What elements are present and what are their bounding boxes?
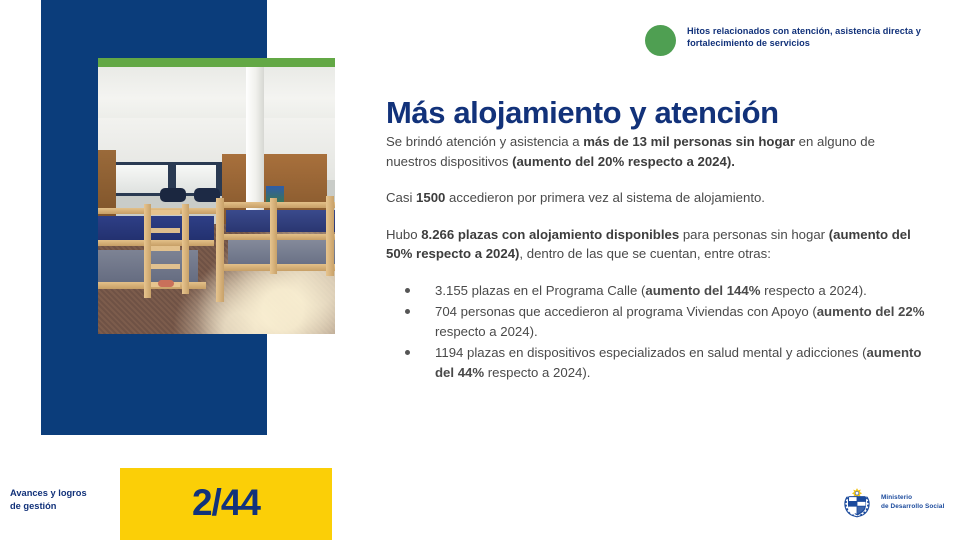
footer-label-line1: Avances y logros	[10, 487, 87, 500]
list-item: 3.155 plazas en el Programa Calle (aumen…	[386, 281, 926, 301]
footer-label-line2: de gestión	[10, 500, 87, 513]
footer-label: Avances y logros de gestión	[10, 487, 87, 512]
list-item: 1194 plazas en dispositivos especializad…	[386, 343, 926, 382]
section-eyebrow-text: Hitos relacionados con atención, asisten…	[687, 24, 945, 50]
body-content: Se brindó atención y asistencia a más de…	[386, 132, 926, 384]
photo-accent-bar	[98, 58, 335, 67]
paragraph-1: Se brindó atención y asistencia a más de…	[386, 132, 926, 171]
page-title: Más alojamiento y atención	[386, 95, 779, 131]
green-dot-icon	[645, 25, 676, 56]
slide-root: Hitos relacionados con atención, asisten…	[0, 0, 960, 540]
ministry-logo: Ministerio de Desarrollo Social	[840, 486, 944, 520]
paragraph-3: Hubo 8.266 plazas con alojamiento dispon…	[386, 225, 926, 264]
bullet-list: 3.155 plazas en el Programa Calle (aumen…	[386, 281, 926, 383]
list-item: 704 personas que accedieron al programa …	[386, 302, 926, 341]
section-eyebrow: Hitos relacionados con atención, asisten…	[645, 24, 945, 56]
ministry-name: Ministerio de Desarrollo Social	[881, 494, 944, 511]
dormitory-photo	[98, 58, 335, 334]
ministry-name-line2: de Desarrollo Social	[881, 503, 944, 512]
ministry-name-line1: Ministerio	[881, 494, 944, 503]
paragraph-2: Casi 1500 accedieron por primera vez al …	[386, 188, 926, 208]
page-number: 2/44	[192, 482, 260, 524]
page-number-chip: 2/44	[120, 468, 332, 540]
photo-scene	[98, 58, 335, 334]
uruguay-coat-of-arms-icon	[840, 486, 874, 520]
